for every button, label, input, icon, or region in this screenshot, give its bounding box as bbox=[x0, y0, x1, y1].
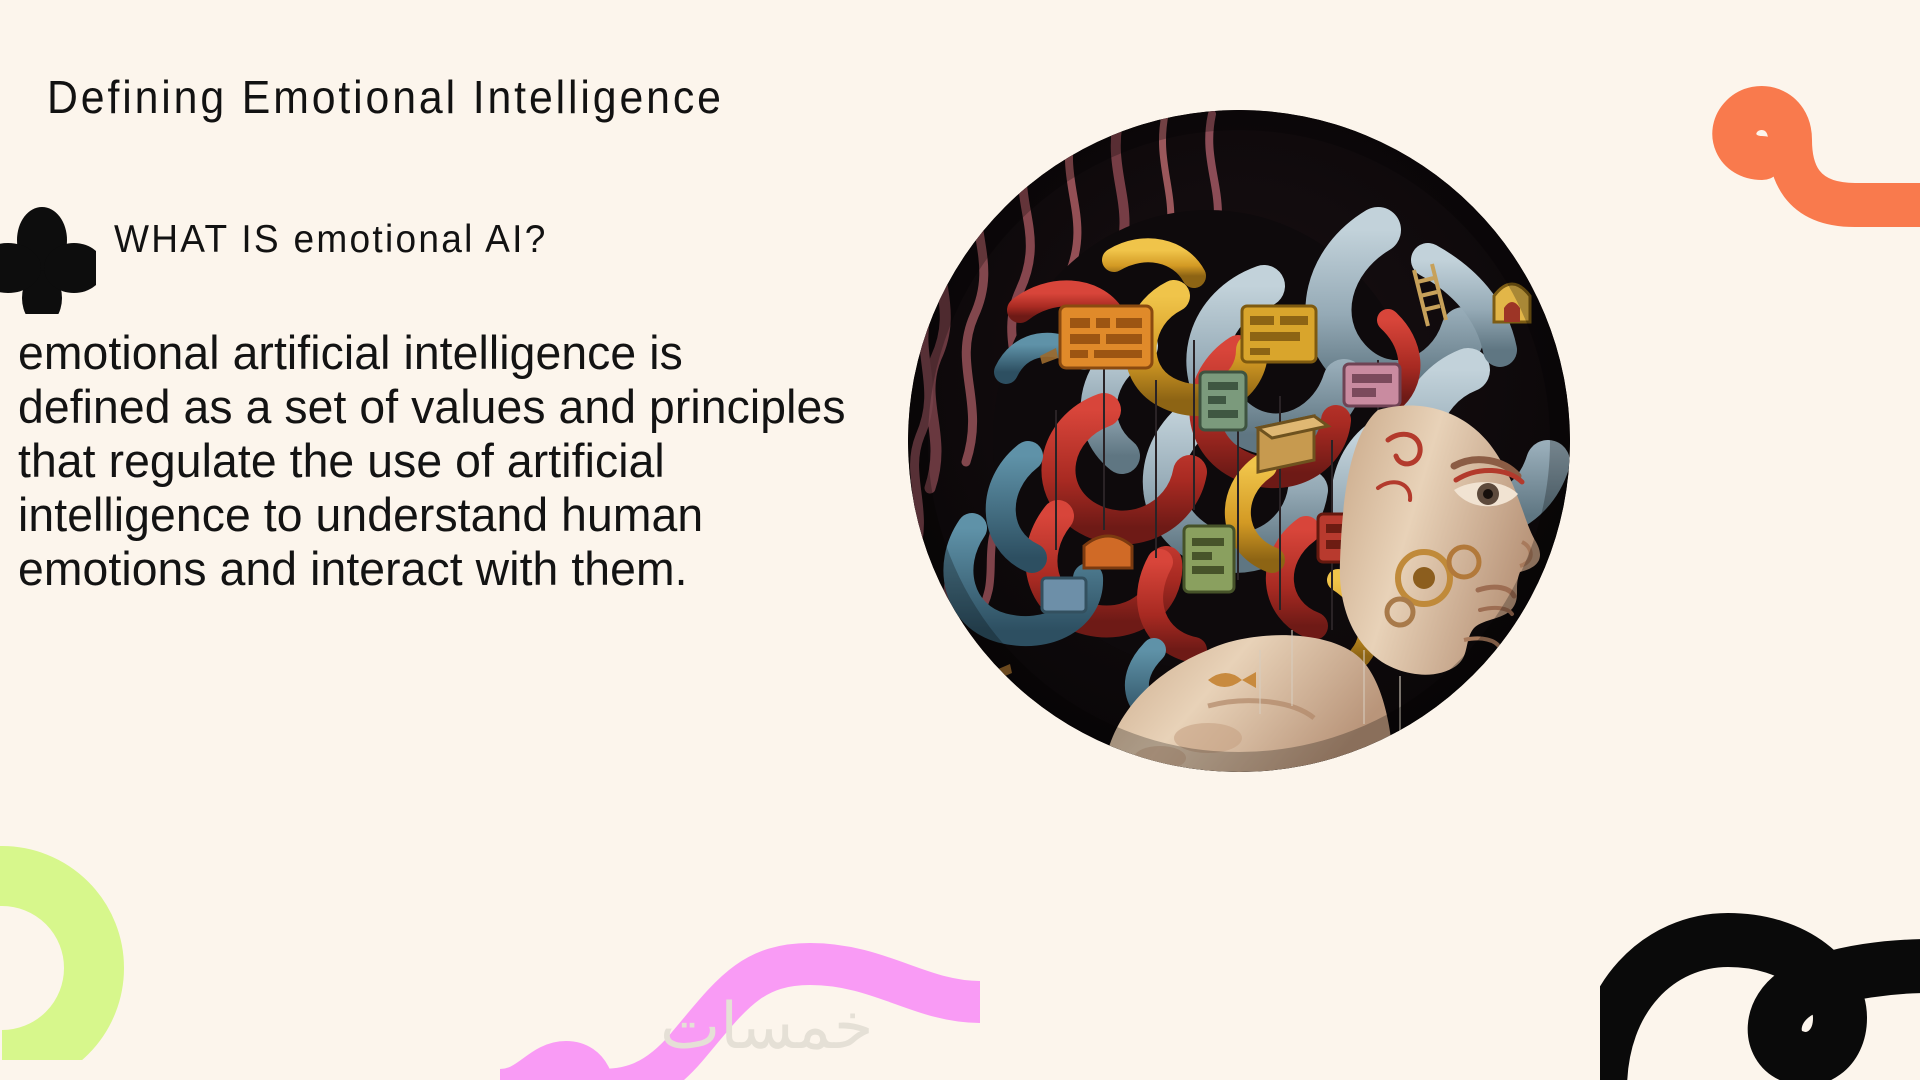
four-petal-clover-icon bbox=[0, 196, 96, 314]
lime-ring-arc-shape bbox=[0, 770, 132, 1060]
black-spiral-curl-shape bbox=[1600, 760, 1920, 1080]
orange-s-curve-shape bbox=[1670, 30, 1920, 230]
page-title: Defining Emotional Intelligence bbox=[47, 70, 724, 124]
watermark-text: خمسات bbox=[660, 990, 873, 1064]
subtitle-text: WHAT IS emotional AI? bbox=[114, 218, 548, 262]
slide-canvas: Defining Emotional Intelligence WHAT IS … bbox=[0, 0, 1920, 1080]
body-paragraph: emotional artificial intelligence is def… bbox=[18, 326, 885, 596]
surreal-head-artwork-image bbox=[908, 110, 1570, 772]
